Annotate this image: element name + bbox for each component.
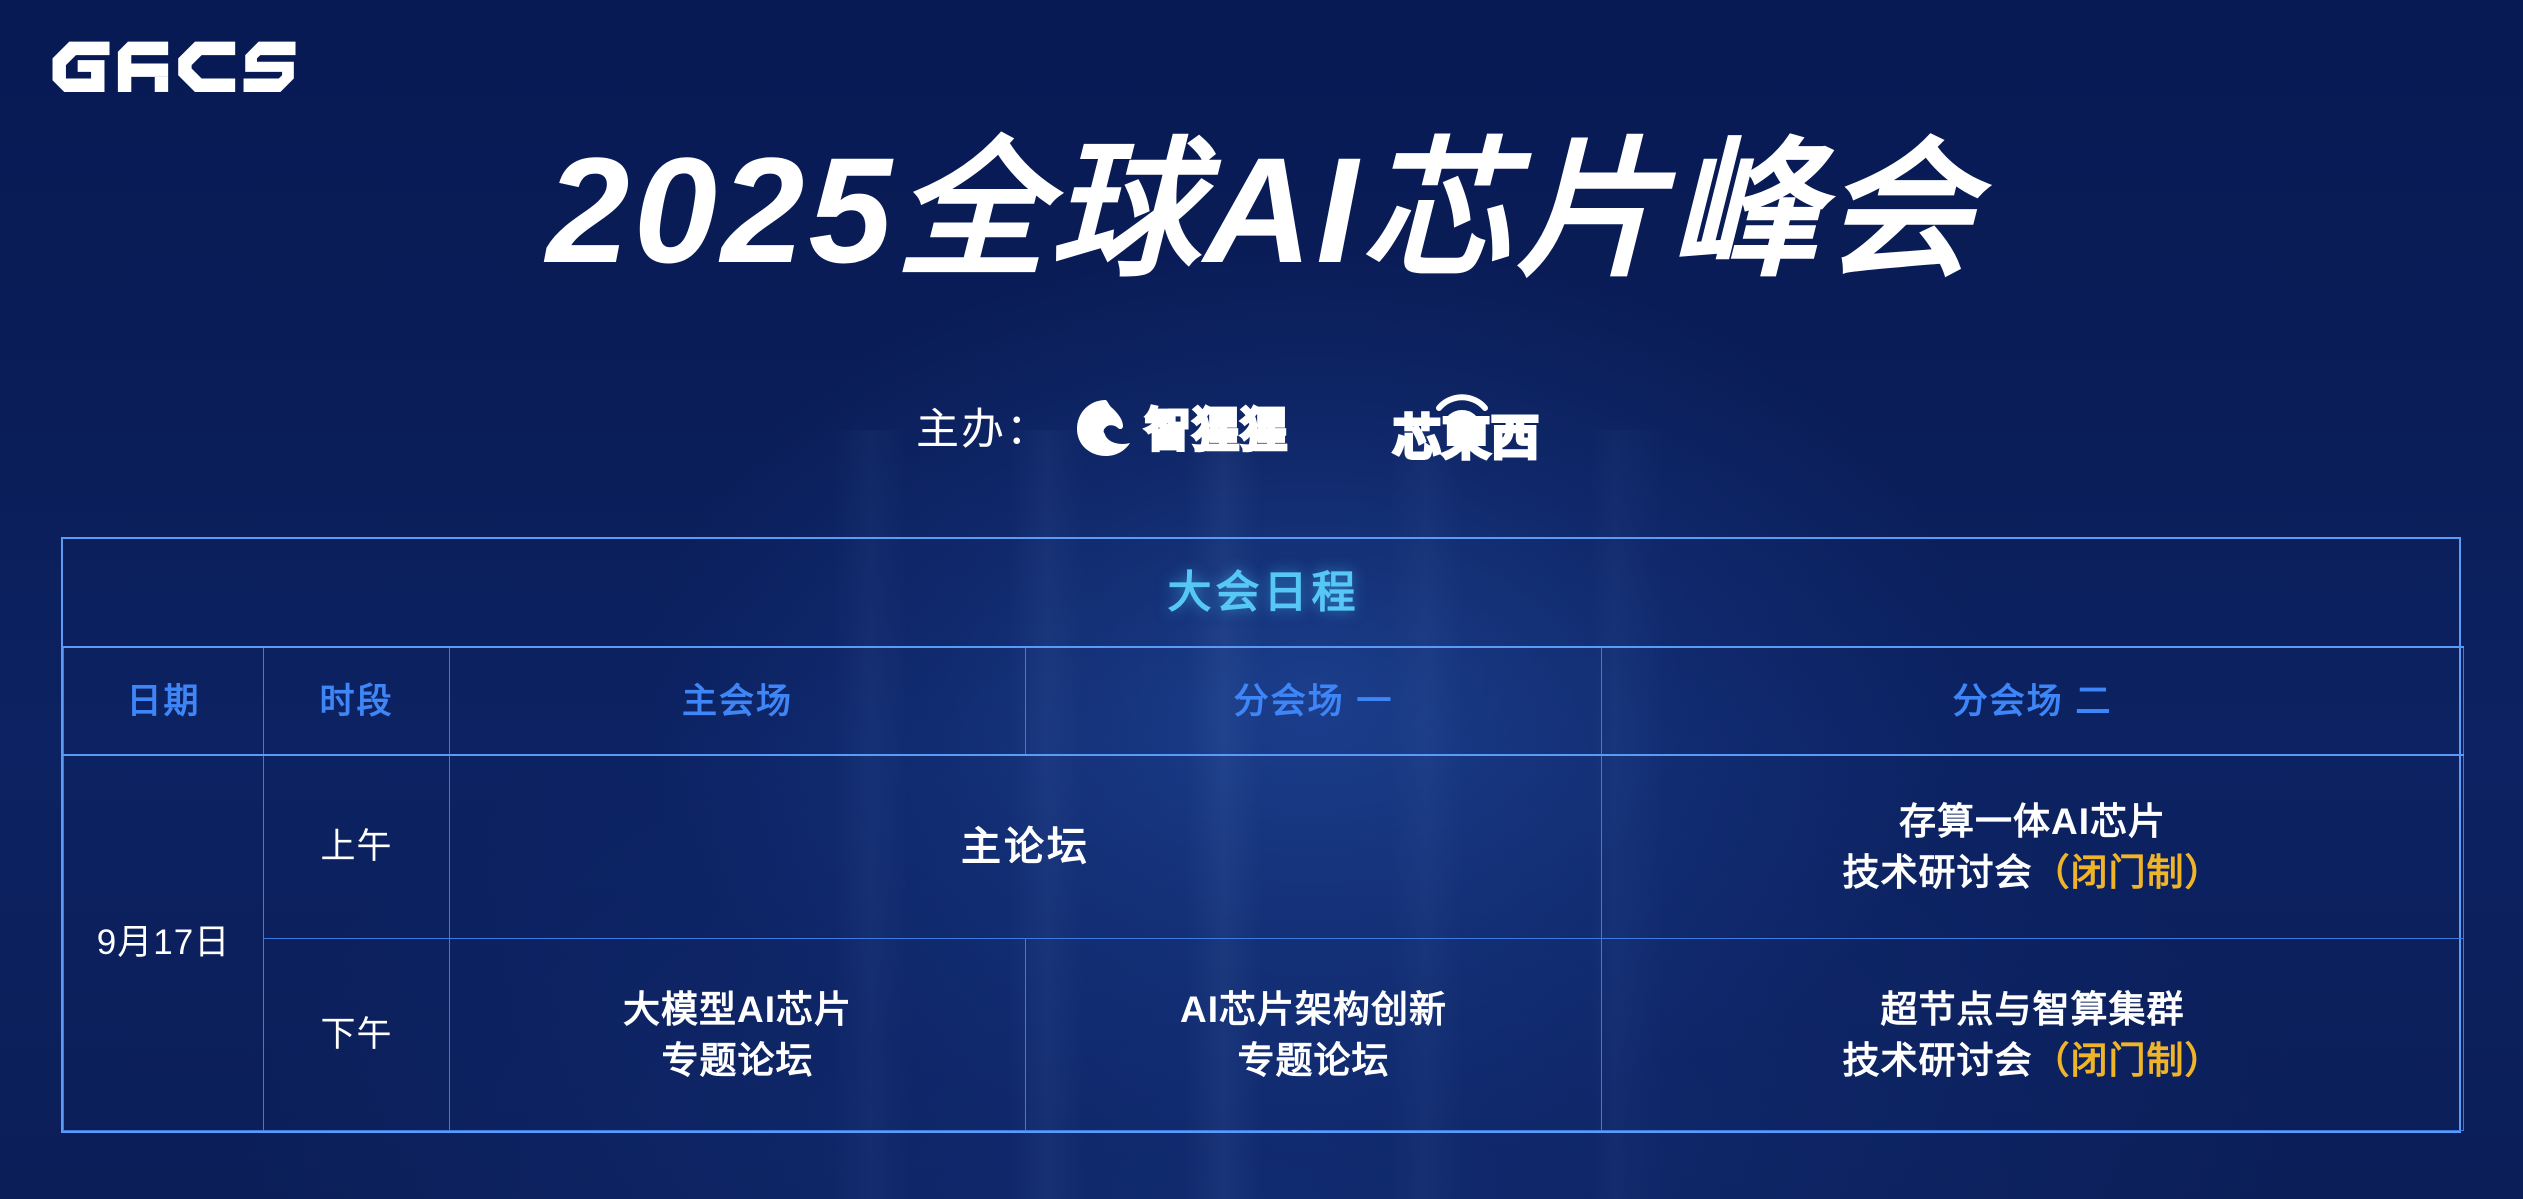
cell-main-venue-afternoon[interactable]: 大模型AI芯片 专题论坛 bbox=[450, 939, 1026, 1131]
session-title-line-2: 专题论坛 bbox=[1026, 1035, 1601, 1086]
page-title-text: 2025全球AI芯片峰会 bbox=[543, 126, 1993, 294]
organizer-logo-zhixingxing[interactable]: 智猩猩 bbox=[1073, 396, 1335, 465]
date-value: 9月17日 bbox=[97, 923, 230, 962]
cell-sub-venue-2-morning[interactable]: 存算一体AI芯片 技术研讨会（闭门制） bbox=[1602, 755, 2464, 939]
session-title-line-1: AI芯片架构创新 bbox=[1026, 984, 1601, 1035]
gacs-logo bbox=[44, 40, 299, 102]
cell-slot-morning: 上午 bbox=[264, 755, 450, 939]
session-note: （闭门制） bbox=[2033, 852, 2223, 893]
table-row: 9月17日 上午 主论坛 存算一体AI芯片 技术研讨会（闭门制） bbox=[64, 755, 2464, 939]
column-header-slot: 时段 bbox=[264, 647, 450, 754]
schedule-title-row: 大会日程 bbox=[64, 539, 2464, 647]
column-header-sub-venue-1: 分会场 一 bbox=[1026, 647, 1602, 754]
organizer-name-xindongxi: 芯東西 bbox=[1393, 412, 1540, 464]
ape-head-icon bbox=[1077, 400, 1130, 456]
main-forum-label: 主论坛 bbox=[961, 825, 1090, 869]
schedule-header-row: 日期 时段 主会场 分会场 一 分会场 二 bbox=[64, 647, 2464, 754]
cell-main-forum[interactable]: 主论坛 bbox=[450, 755, 1602, 939]
poster-canvas: .tt { font-family: "Liberation Sans", "D… bbox=[0, 0, 2523, 1199]
organizer-name-zhixingxing: 智猩猩 bbox=[1145, 404, 1289, 456]
column-header-main-venue: 主会场 bbox=[450, 647, 1026, 754]
session-title-line-2: 专题论坛 bbox=[450, 1035, 1025, 1086]
session-title-line-2: 技术研讨会 bbox=[1843, 852, 2033, 893]
session-title-line-1: 超节点与智算集群 bbox=[1602, 984, 2463, 1035]
schedule-table: 大会日程 日期 时段 主会场 分会场 一 bbox=[63, 539, 2464, 1131]
cell-date: 9月17日 bbox=[64, 755, 264, 1131]
column-header-sub-venue-2: 分会场 二 bbox=[1602, 647, 2464, 754]
table-row: 下午 大模型AI芯片 专题论坛 AI芯片架构创新 专题论坛 bbox=[64, 939, 2464, 1131]
slot-value: 上午 bbox=[320, 827, 392, 866]
session-title-line-1: 存算一体AI芯片 bbox=[1602, 796, 2463, 847]
session-note: （闭门制） bbox=[2033, 1040, 2223, 1081]
schedule-table-wrapper: 大会日程 日期 时段 主会场 分会场 一 bbox=[61, 537, 2461, 1133]
organizer-row: 主办： 智猩猩 bbox=[0, 382, 2523, 478]
organizer-logo-xindongxi[interactable]: 芯東西 bbox=[1387, 392, 1607, 469]
schedule-title-cell: 大会日程 bbox=[64, 539, 2464, 647]
column-header-date: 日期 bbox=[64, 647, 264, 754]
cell-slot-afternoon: 下午 bbox=[264, 939, 450, 1131]
cell-sub-venue-1-afternoon[interactable]: AI芯片架构创新 专题论坛 bbox=[1026, 939, 1602, 1131]
organizer-label: 主办： bbox=[916, 409, 1051, 452]
session-title-line-2: 技术研讨会 bbox=[1843, 1040, 2033, 1081]
schedule-section-title: 大会日程 bbox=[1168, 568, 1360, 617]
slot-value: 下午 bbox=[320, 1015, 392, 1054]
page-title: .tt { font-family: "Liberation Sans", "D… bbox=[0, 122, 2523, 302]
session-title-line-1: 大模型AI芯片 bbox=[450, 984, 1025, 1035]
cell-sub-venue-2-afternoon[interactable]: 超节点与智算集群 技术研讨会（闭门制） bbox=[1602, 939, 2464, 1131]
